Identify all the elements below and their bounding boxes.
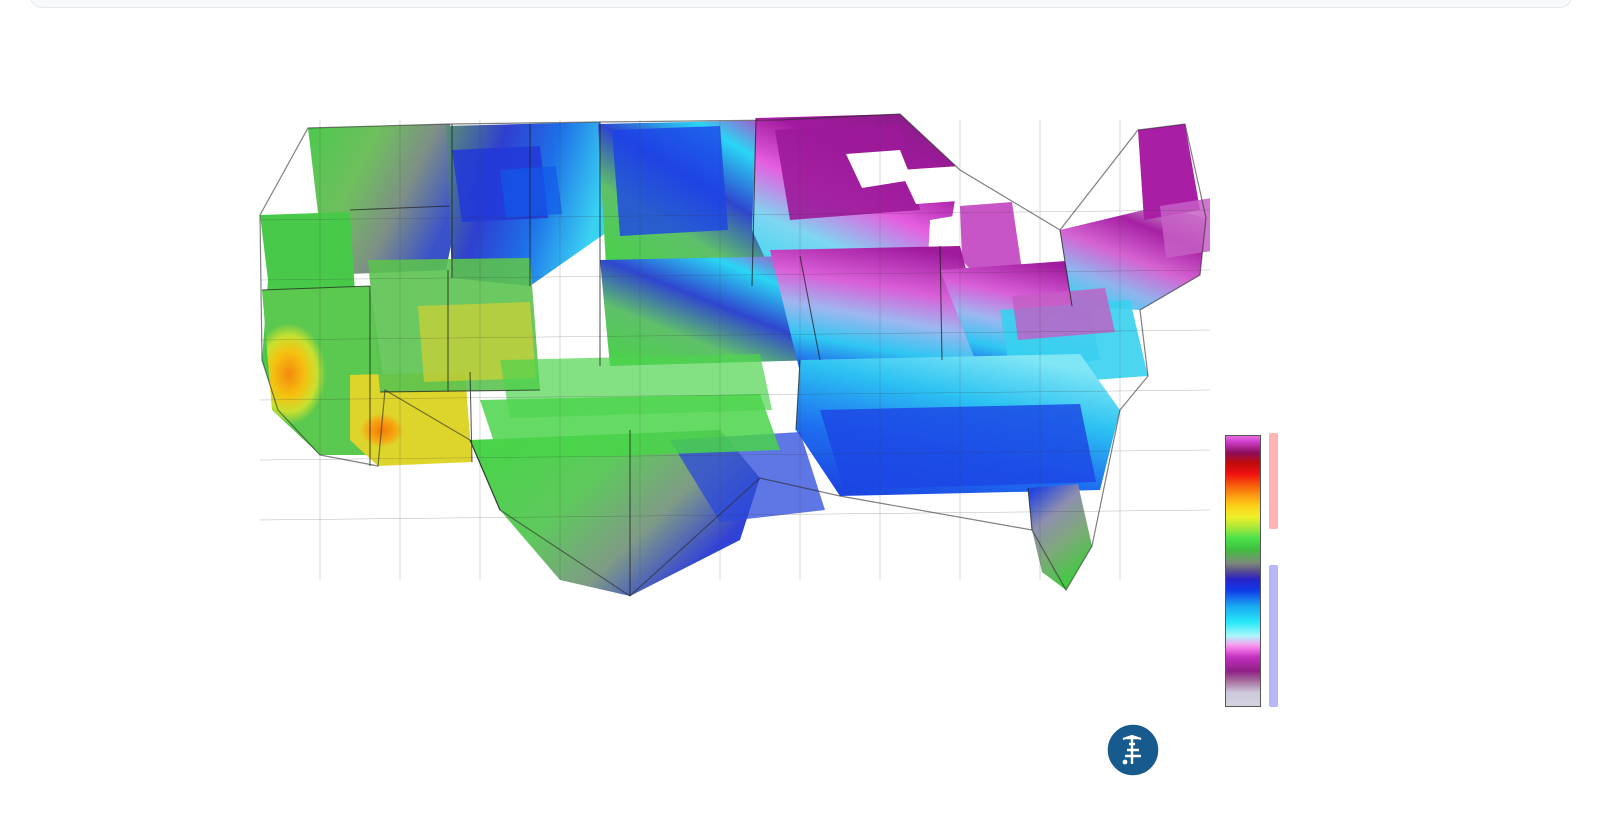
map-canvas [200,110,1210,730]
heat-index-range-bar [1269,433,1278,529]
colorbar-legend [1165,425,1435,715]
mesonet-tower-icon [1105,722,1161,783]
wind-chill-range-bar [1269,565,1278,707]
mesonet-logo [1105,722,1169,783]
wind-chill-heat-index-map-figure [200,110,1440,790]
us-contour-map [200,110,1210,730]
colorbar-gradient [1225,435,1261,707]
page-panel-edge [30,0,1572,8]
